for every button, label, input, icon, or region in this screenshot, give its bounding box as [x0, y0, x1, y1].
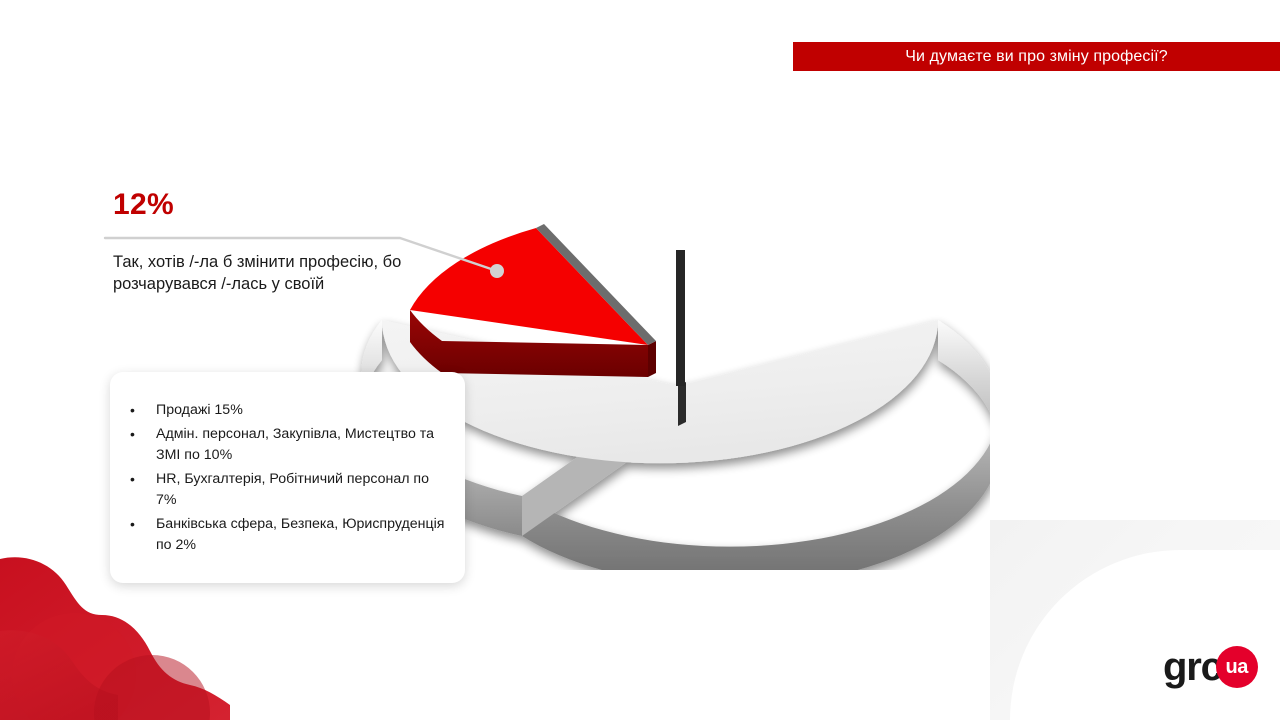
bullet-icon: • [130, 400, 135, 421]
callout-description: Так, хотів /-ла б змінити професію, бо р… [113, 252, 418, 296]
logo-ua-label: ua [1225, 656, 1247, 679]
list-item-label: Продажі 15% [156, 402, 243, 418]
logo-wordmark: grc [1163, 647, 1222, 687]
list-item: • Банківська сфера, Безпека, Юриспруденц… [122, 514, 445, 557]
slide-root: Чи думаєте ви про зміну професії? [0, 0, 1280, 720]
bullet-icon: • [130, 424, 135, 445]
header-bar: Чи думаєте ви про зміну професії? [793, 42, 1280, 71]
page-title: Чи думаєте ви про зміну професії? [905, 48, 1167, 66]
bullet-icon: • [130, 469, 135, 490]
list-item: • Продажі 15% [122, 400, 445, 422]
callout-group: 12% Так, хотів /-ла б змінити професію, … [100, 188, 520, 348]
callout-percent: 12% [113, 188, 174, 222]
breakdown-list: • Продажі 15% • Адмін. персонал, Закупів… [122, 400, 445, 557]
logo-ua-badge: ua [1216, 646, 1258, 688]
bullet-icon: • [130, 514, 135, 535]
list-item-label: Адмін. персонал, Закупівла, Мистецтво та… [156, 426, 434, 464]
list-item-label: HR, Бухгалтерія, Робітничий персонал по … [156, 471, 429, 509]
logo: grc ua [1163, 646, 1258, 688]
list-item: • Адмін. персонал, Закупівла, Мистецтво … [122, 424, 445, 467]
breakdown-card: • Продажі 15% • Адмін. персонал, Закупів… [110, 372, 465, 583]
logo-backdrop-white-curve [1010, 550, 1280, 720]
logo-backdrop [990, 520, 1280, 720]
callout-marker-dot [490, 264, 504, 278]
list-item: • HR, Бухгалтерія, Робітничий персонал п… [122, 469, 445, 512]
list-item-label: Банківська сфера, Безпека, Юриспруденція… [156, 516, 444, 554]
